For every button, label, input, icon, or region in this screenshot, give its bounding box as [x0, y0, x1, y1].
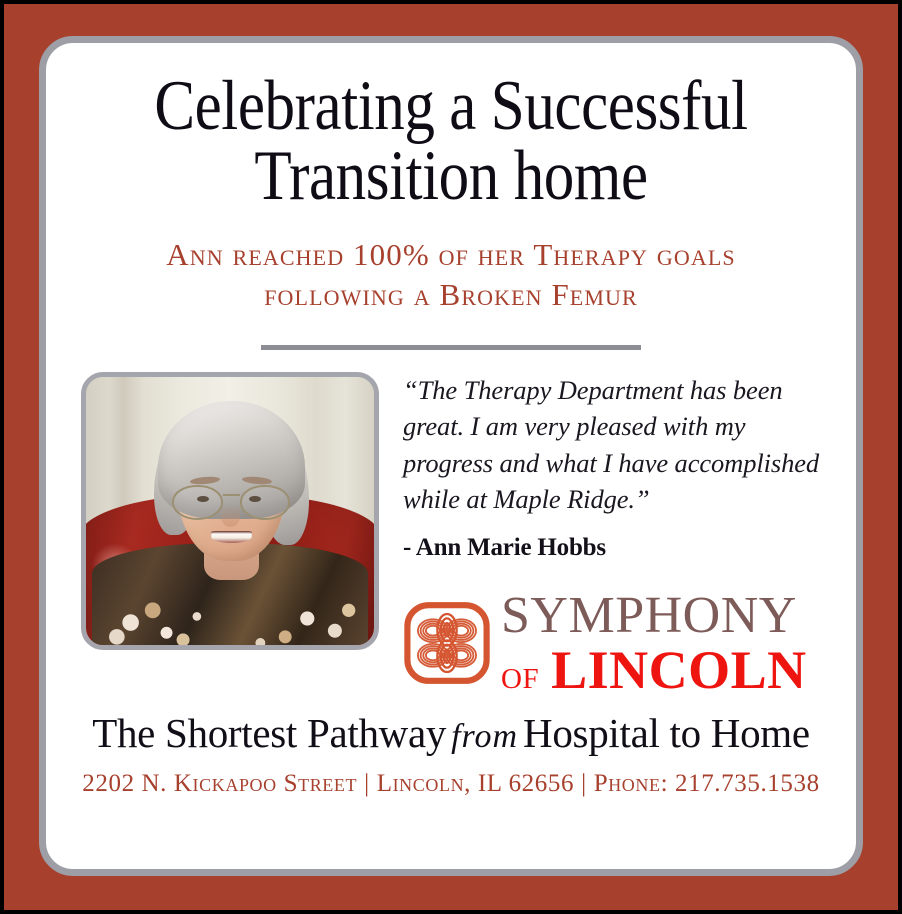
- logo-second-line: OF LINCOLN: [501, 643, 838, 697]
- logo-of-text: OF: [501, 663, 539, 695]
- subheadline: Ann reached 100% of her Therapy goals fo…: [46, 235, 856, 314]
- address-phone: Phone: 217.735.1538: [594, 770, 820, 797]
- portrait-photo: [86, 377, 374, 645]
- logo-symphony-text: SYMPHONY: [501, 589, 838, 642]
- tagline: The Shortest PathwayfromHospital to Home: [46, 709, 856, 757]
- portrait-photo-frame: [81, 372, 379, 650]
- address-separator-1: |: [357, 770, 377, 797]
- photo-lens-right: [240, 485, 291, 520]
- address-city-state-zip: Lincoln, IL 62656: [377, 770, 574, 797]
- white-card: Celebrating a Successful Transition home…: [39, 36, 863, 876]
- symphony-of-lincoln-logo: SYMPHONY OF LINCOLN: [403, 589, 838, 697]
- photo-nose: [221, 505, 240, 526]
- testimonial-quote: “The Therapy Department has been great. …: [403, 372, 838, 518]
- photo-glasses-bridge: [223, 494, 240, 496]
- symphony-quatrefoil-icon: [403, 599, 491, 687]
- logo-wordmark: SYMPHONY OF LINCOLN: [501, 589, 838, 697]
- page-title: Celebrating a Successful Transition home: [103, 43, 800, 211]
- address-line: 2202 N. Kickapoo Street|Lincoln, IL 6265…: [46, 770, 856, 798]
- address-separator-2: |: [574, 770, 594, 797]
- tagline-part-2: Hospital to Home: [523, 710, 810, 756]
- address-street: 2202 N. Kickapoo Street: [82, 770, 357, 797]
- photo-smile: [211, 531, 251, 543]
- photo-lens-left: [172, 485, 223, 520]
- tagline-script-word: from: [446, 718, 523, 755]
- divider-rule: [261, 345, 641, 350]
- tagline-part-1: The Shortest Pathway: [92, 710, 446, 756]
- red-border-band: Celebrating a Successful Transition home…: [4, 4, 898, 910]
- logo-lincoln-text: LINCOLN: [551, 640, 807, 700]
- body-row: “The Therapy Department has been great. …: [46, 350, 856, 697]
- testimonial-attribution: - Ann Marie Hobbs: [403, 534, 838, 562]
- testimonial-block: “The Therapy Department has been great. …: [379, 372, 856, 697]
- ad-poster: Celebrating a Successful Transition home…: [0, 0, 902, 914]
